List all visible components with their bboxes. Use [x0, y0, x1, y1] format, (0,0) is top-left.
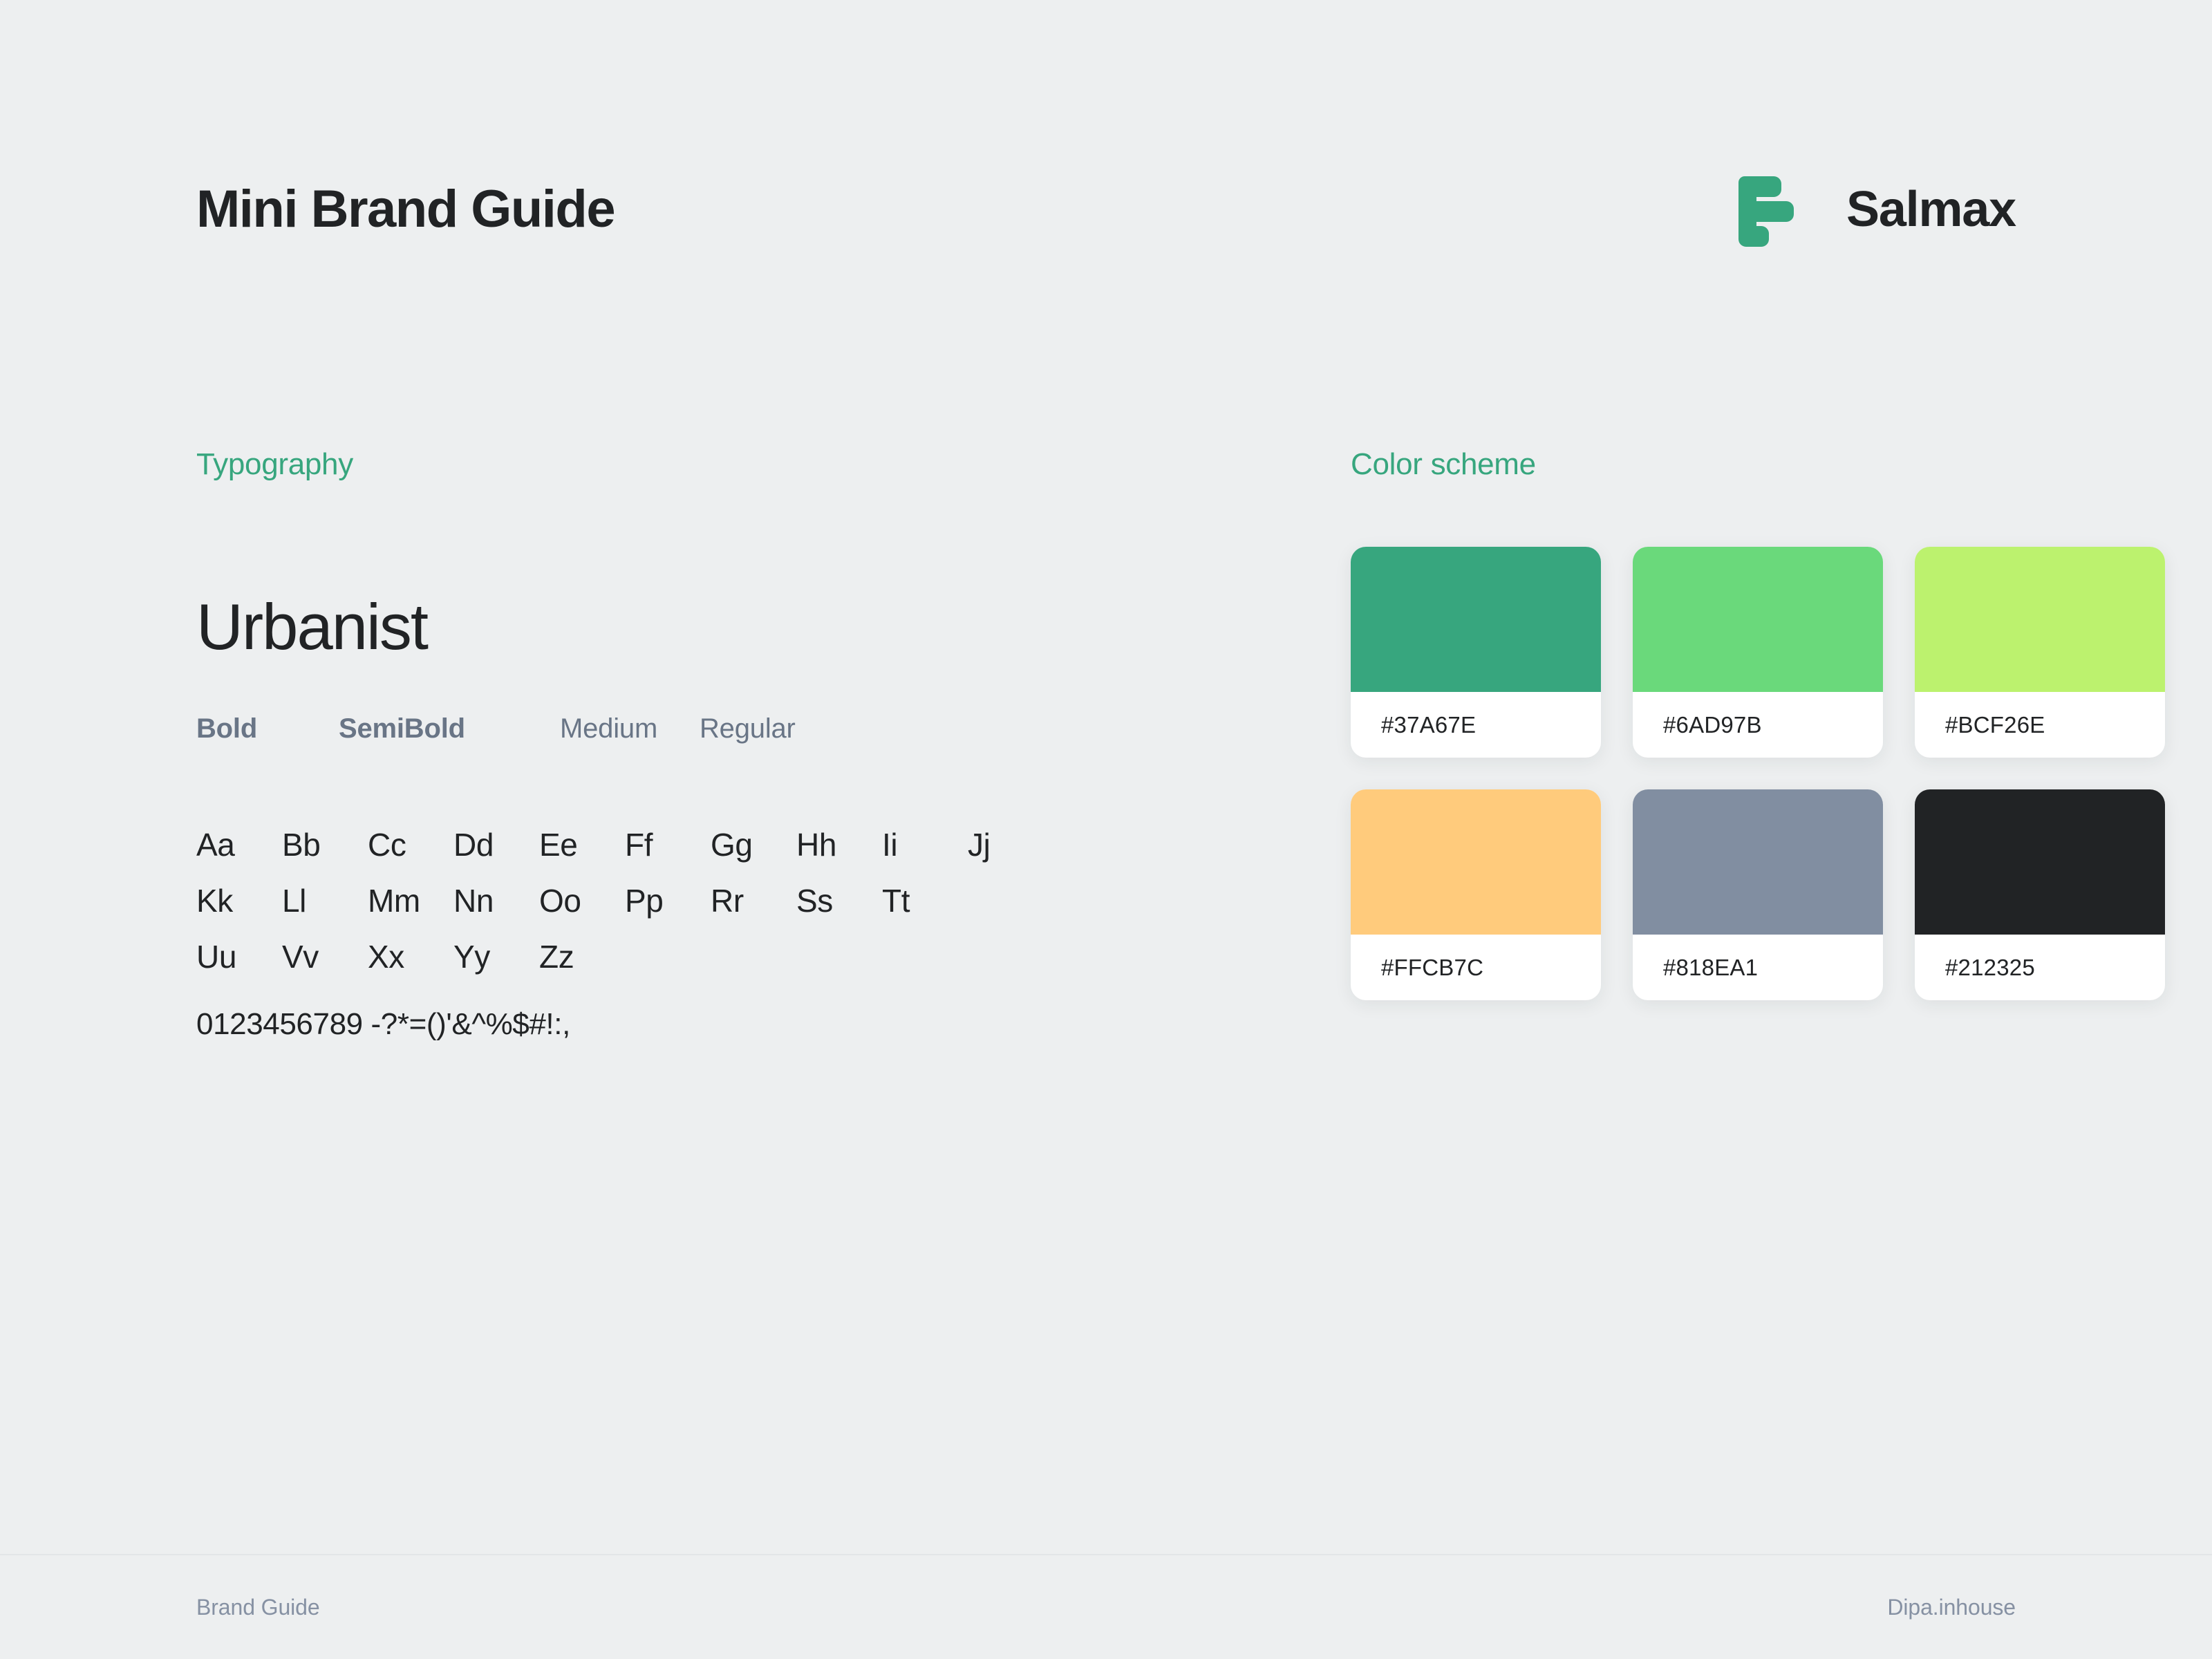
color-swatch-card[interactable]: #37A67E	[1351, 547, 1601, 758]
glyph-pair: Bb	[282, 826, 368, 863]
glyph-pair: Rr	[711, 882, 796, 919]
color-chip	[1351, 547, 1601, 692]
color-label-row: #BCF26E	[1915, 692, 2165, 758]
font-weight-semibold: SemiBold	[339, 713, 560, 744]
color-swatch-card[interactable]: #212325	[1915, 789, 2165, 1000]
glyph-pair: Cc	[368, 826, 453, 863]
font-weight-regular: Regular	[700, 713, 796, 744]
glyph-pair: Ee	[539, 826, 625, 863]
glyph-pair: Ff	[625, 826, 711, 863]
page-header: Mini Brand Guide Salmax	[196, 171, 2016, 247]
color-swatch-card[interactable]: #6AD97B	[1633, 547, 1883, 758]
color-hex-label: #818EA1	[1663, 955, 1758, 981]
glyph-specimen: Aa Bb Cc Dd Ee Ff Gg Hh Ii Jj Kk Ll Mm N…	[196, 826, 1212, 975]
main-content: Typography Urbanist Bold SemiBold Medium…	[196, 449, 2016, 1042]
color-chip	[1633, 789, 1883, 935]
brand-guide-page: Mini Brand Guide Salmax Typography Urban…	[0, 0, 2212, 1659]
glyph-pair: Nn	[453, 882, 539, 919]
color-swatch-grid: #37A67E #6AD97B #BCF26E	[1351, 547, 2165, 1000]
glyph-pair: Mm	[368, 882, 453, 919]
color-swatch-card[interactable]: #818EA1	[1633, 789, 1883, 1000]
glyph-pair: Yy	[453, 938, 539, 975]
glyph-row: Kk Ll Mm Nn Oo Pp Rr Ss Tt	[196, 882, 1212, 919]
footer-divider	[0, 1554, 2212, 1555]
page-title: Mini Brand Guide	[196, 183, 615, 236]
color-label-row: #37A67E	[1351, 692, 1601, 758]
glyph-pair: Gg	[711, 826, 796, 863]
color-chip	[1915, 547, 2165, 692]
color-swatch-card[interactable]: #FFCB7C	[1351, 789, 1601, 1000]
font-weight-list: Bold SemiBold Medium Regular	[196, 713, 1212, 744]
color-chip	[1351, 789, 1601, 935]
color-chip	[1633, 547, 1883, 692]
glyph-pair: Aa	[196, 826, 282, 863]
typography-section: Typography Urbanist Bold SemiBold Medium…	[196, 449, 1212, 1042]
glyph-pair: Oo	[539, 882, 625, 919]
glyph-pair: Hh	[796, 826, 882, 863]
page-footer: Brand Guide Dipa.inhouse	[196, 1583, 2016, 1631]
glyph-pair: Ll	[282, 882, 368, 919]
font-weight-medium: Medium	[560, 713, 700, 744]
glyph-pair: Ss	[796, 882, 882, 919]
typeface-name: Urbanist	[196, 594, 1212, 659]
color-label-row: #212325	[1915, 935, 2165, 1000]
color-scheme-section: Color scheme #37A67E #6AD97B	[1212, 449, 2165, 1042]
brand-lockup: Salmax	[1736, 167, 2016, 252]
color-chip	[1915, 789, 2165, 935]
font-weight-bold: Bold	[196, 713, 339, 744]
glyph-pair: Tt	[882, 882, 968, 919]
brand-name: Salmax	[1846, 185, 2016, 234]
glyph-pair: Dd	[453, 826, 539, 863]
glyph-pair: Pp	[625, 882, 711, 919]
glyph-pair: Jj	[968, 826, 1053, 863]
color-label-row: #818EA1	[1633, 935, 1883, 1000]
glyph-row: Aa Bb Cc Dd Ee Ff Gg Hh Ii Jj	[196, 826, 1212, 863]
salmax-f-mark-icon	[1736, 167, 1821, 252]
color-hex-label: #6AD97B	[1663, 712, 1762, 738]
footer-left-label: Brand Guide	[196, 1595, 320, 1620]
color-hex-label: #212325	[1945, 955, 2035, 981]
glyph-pair: Kk	[196, 882, 282, 919]
color-label-row: #6AD97B	[1633, 692, 1883, 758]
glyph-pair: Vv	[282, 938, 368, 975]
color-scheme-section-title: Color scheme	[1351, 449, 2165, 480]
glyph-pair: Ii	[882, 826, 968, 863]
footer-right-label: Dipa.inhouse	[1887, 1595, 2016, 1620]
color-hex-label: #BCF26E	[1945, 712, 2045, 738]
numerals-and-symbols-specimen: 0123456789 -?*=()'&^%$#!:,	[196, 1007, 1212, 1042]
glyph-pair: Zz	[539, 938, 625, 975]
glyph-row: Uu Vv Xx Yy Zz	[196, 938, 1212, 975]
glyph-pair: Xx	[368, 938, 453, 975]
color-hex-label: #FFCB7C	[1381, 955, 1483, 981]
color-swatch-card[interactable]: #BCF26E	[1915, 547, 2165, 758]
color-label-row: #FFCB7C	[1351, 935, 1601, 1000]
glyph-pair: Uu	[196, 938, 282, 975]
color-hex-label: #37A67E	[1381, 712, 1476, 738]
typography-section-title: Typography	[196, 449, 1212, 480]
